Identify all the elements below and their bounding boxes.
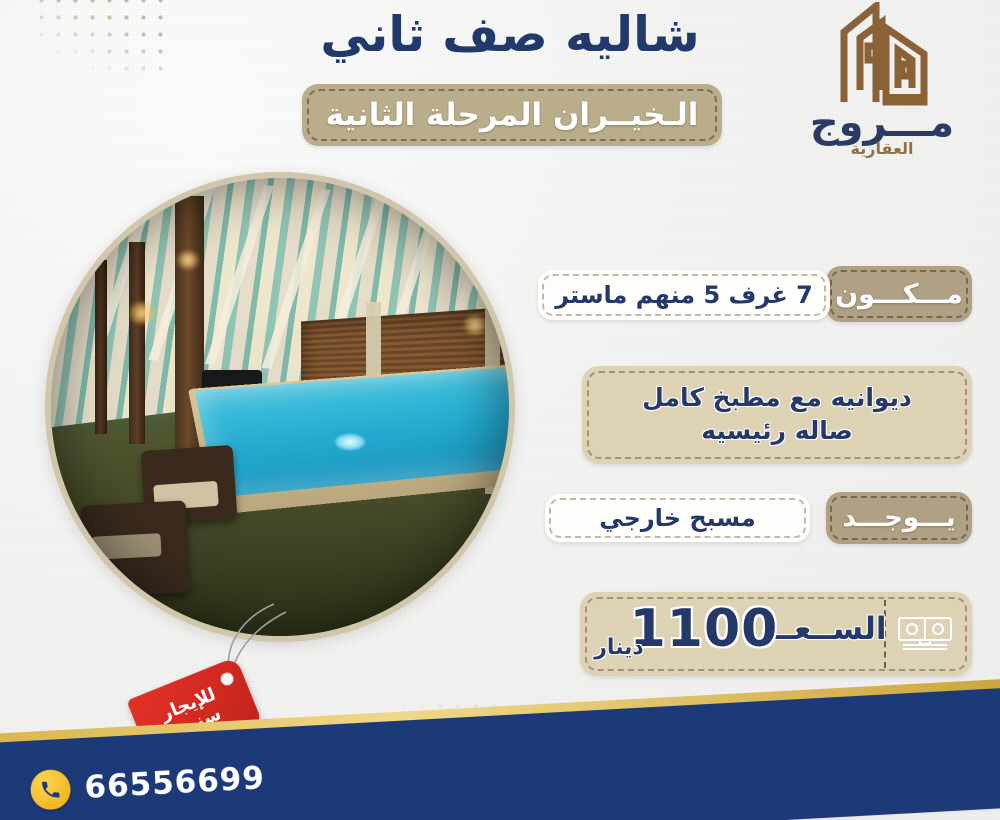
feature-label-text: يـــوجـــد	[826, 492, 972, 544]
property-photo-frame	[45, 172, 515, 642]
banknote-icon	[897, 616, 953, 652]
price-currency: دينار	[588, 632, 650, 662]
dot-grid-decoration-top-left	[33, 0, 173, 82]
footer-contact: 66556699	[30, 758, 266, 811]
feature-value-living-areas: ديوانيه مع مطبخ كامل صاله رئيسيه	[582, 366, 972, 464]
feature-value-text: مسبح خارجي	[545, 494, 810, 542]
page-title: شاليه صف ثاني	[300, 0, 720, 70]
price-label: الســعــر	[764, 606, 876, 652]
photo-vignette	[51, 178, 509, 636]
phone-number[interactable]: 66556699	[84, 760, 266, 806]
feature-line-1: ديوانيه مع مطبخ كامل	[642, 384, 912, 413]
feature-box-living-areas: ديوانيه مع مطبخ كامل صاله رئيسيه	[582, 366, 972, 464]
price-content: الســعــر 1100 دينار	[580, 592, 972, 676]
feature-label-text: مـــكـــون	[826, 266, 972, 322]
phone-icon[interactable]	[30, 769, 72, 811]
feature-label-available: يـــوجـــد	[826, 492, 972, 544]
price-box: الســعــر 1100 دينار	[580, 592, 972, 676]
phone-glyph-icon	[39, 778, 62, 801]
feature-label-rooms: مـــكـــون	[826, 266, 972, 322]
logo-tagline: العقارية	[782, 138, 982, 160]
feature-line-2: صاله رئيسيه	[701, 417, 853, 446]
price-icon-cell	[884, 600, 964, 668]
feature-value-text: 7 غرف 5 منهم ماستر	[538, 270, 830, 320]
subtitle-text: الـخيــران المرحلة الثانية	[302, 84, 722, 146]
subtitle-badge: الـخيــران المرحلة الثانية	[302, 84, 722, 146]
muruj-kufic-logo-mark-icon	[824, 2, 942, 107]
price-amount: 1100	[642, 596, 766, 662]
feature-value-rooms: 7 غرف 5 منهم ماستر	[538, 270, 830, 320]
real-estate-ad-poster: شاليه صف ثاني الـخيــران المرحلة الثانية…	[0, 0, 1000, 820]
company-logo: مـــروج العقارية	[782, 2, 982, 167]
feature-value-pool: مسبح خارجي	[545, 494, 810, 542]
indoor-pool-photo	[51, 178, 509, 636]
